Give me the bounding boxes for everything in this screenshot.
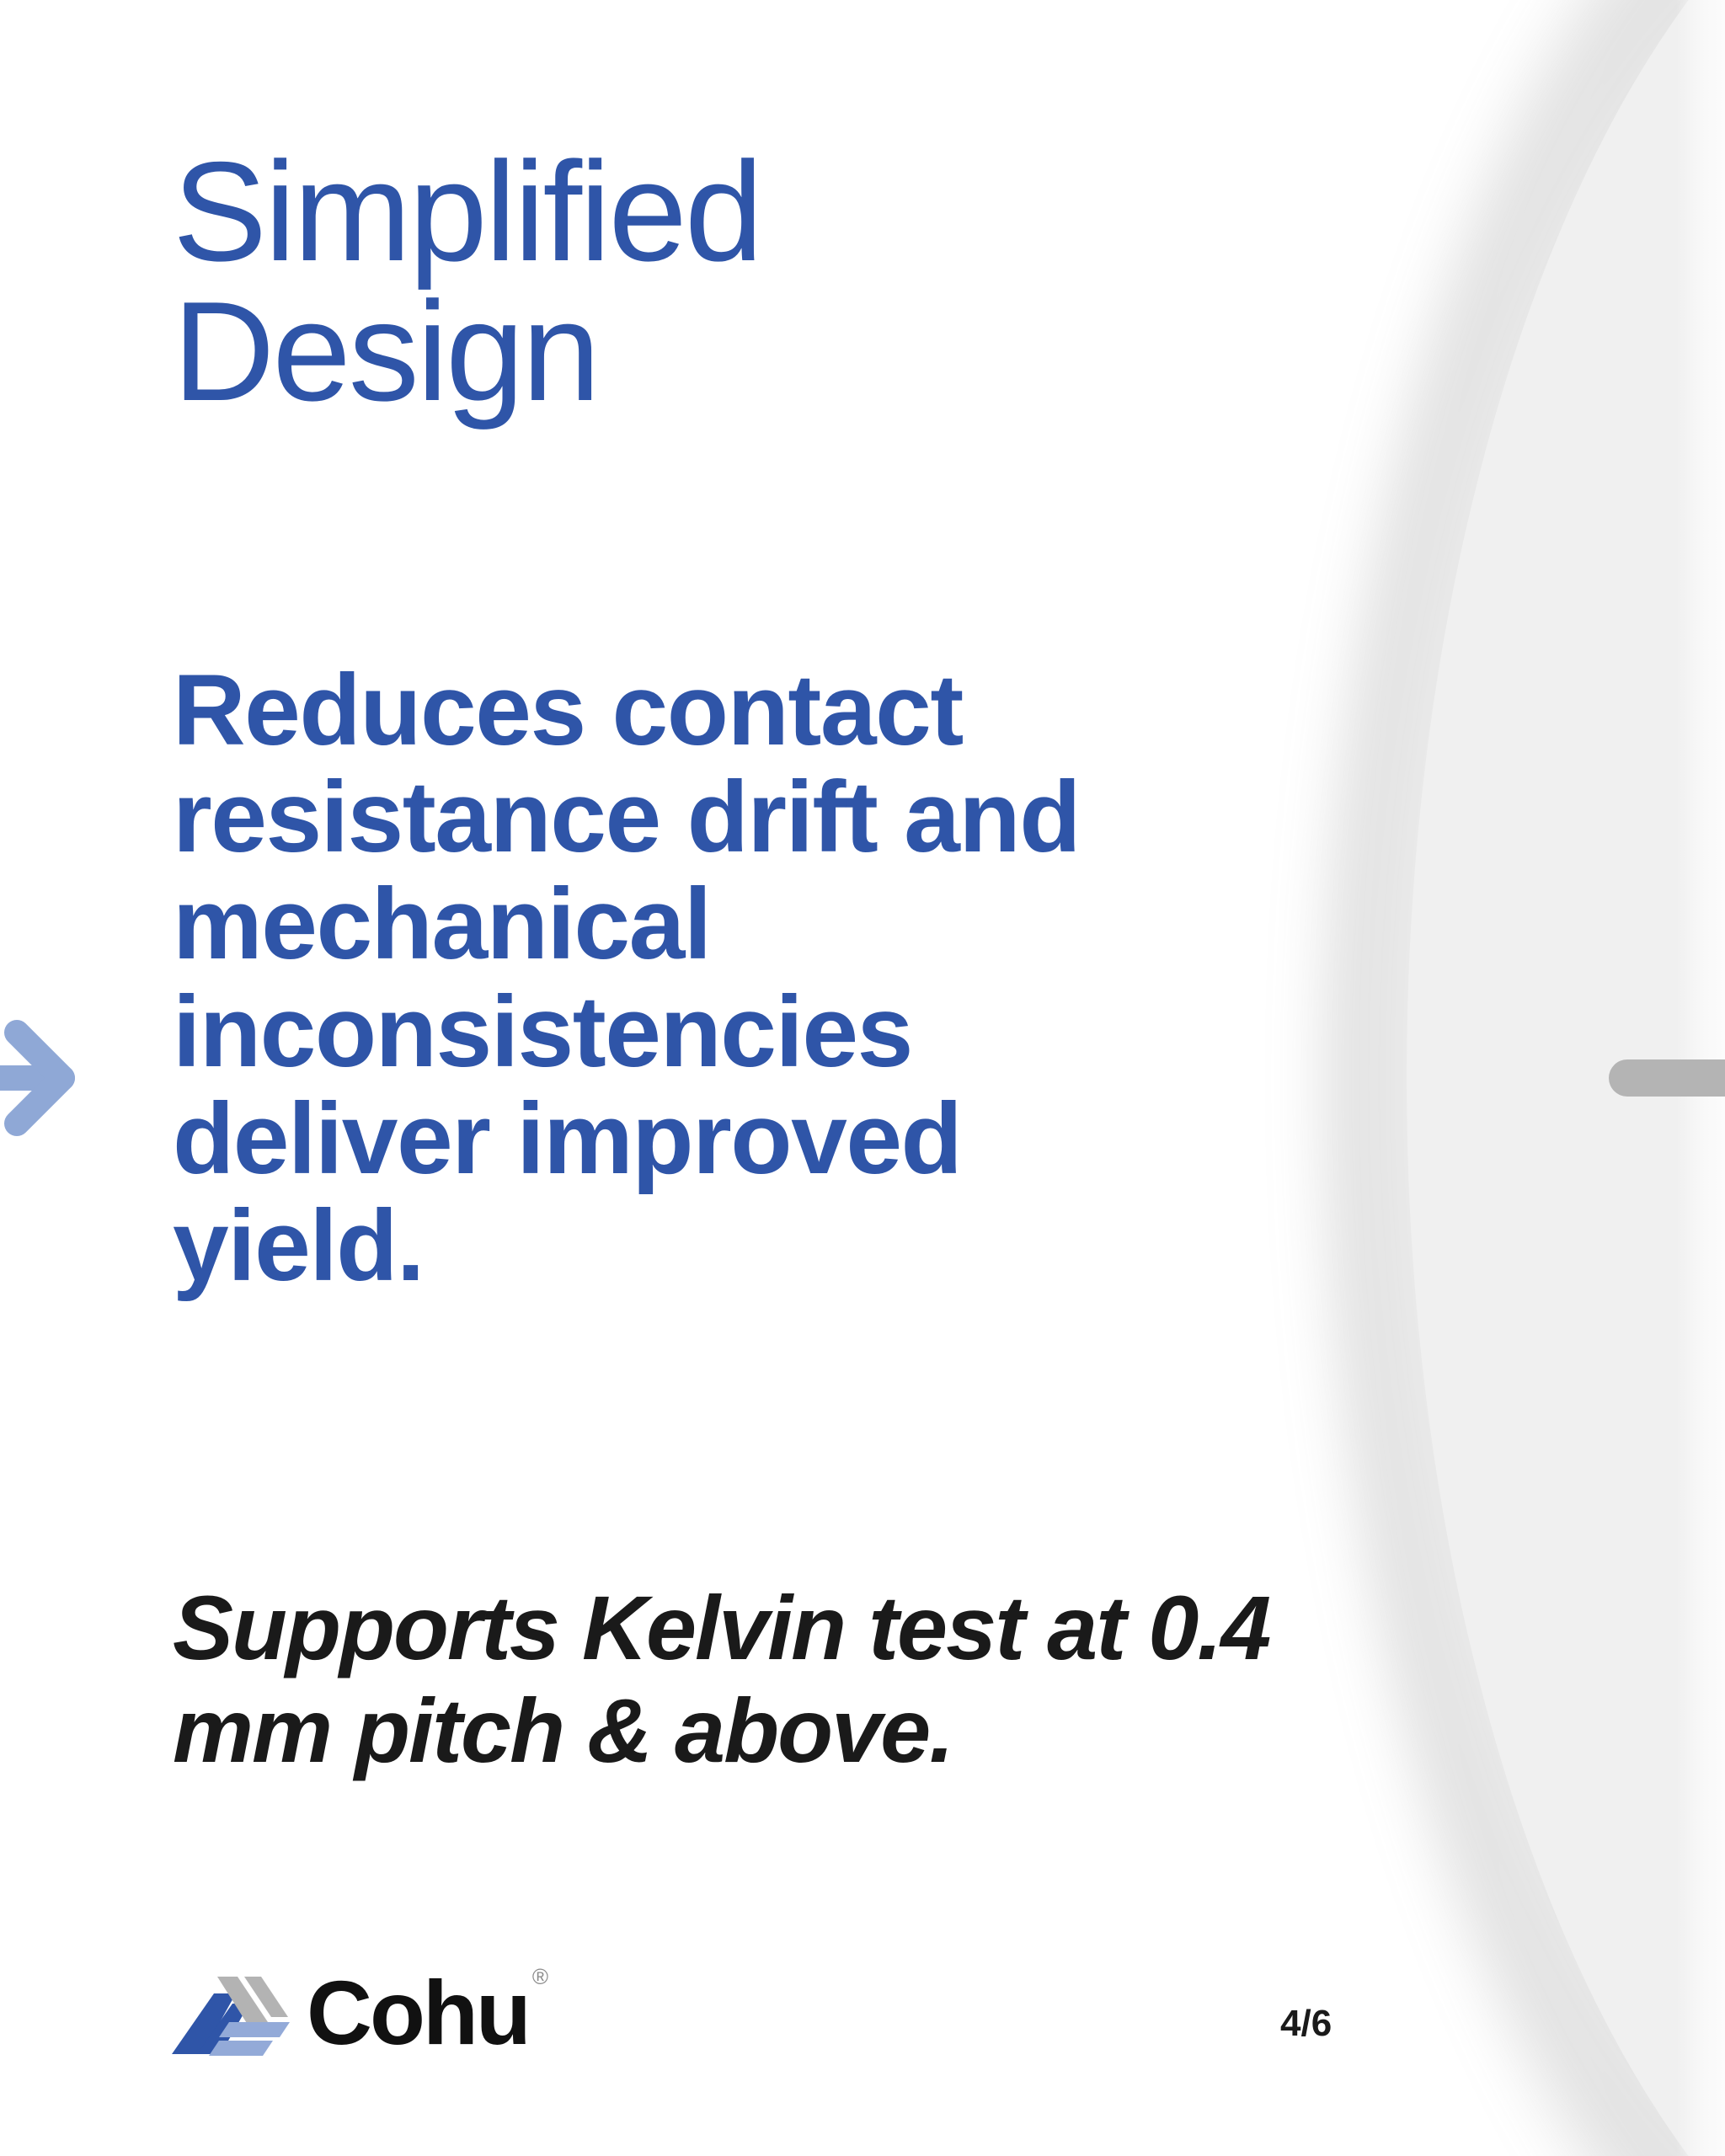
logo-wordmark: Cohu® <box>307 1967 545 2058</box>
logo-wordmark-text: Cohu <box>307 1961 529 2063</box>
next-progress-bar[interactable] <box>1609 1059 1725 1097</box>
subnote-text: Supports Kelvin test at 0.4 mm pitch & a… <box>173 1577 1310 1782</box>
page-counter: 4/6 <box>1280 2003 1332 2045</box>
slide-root: Simplified Design Reduces contact resist… <box>0 0 1725 2156</box>
footer-logo: Cohu® <box>165 1967 545 2065</box>
prev-arrow-button[interactable] <box>0 1009 106 1147</box>
cohu-triangle-logo-icon <box>165 1970 291 2063</box>
slide-content: Simplified Design Reduces contact resist… <box>173 0 1284 2156</box>
registered-trademark-icon: ® <box>532 1964 548 1989</box>
arrow-right-icon <box>0 1009 106 1147</box>
headline-text: Reduces contact resistance drift and mec… <box>173 657 1209 1299</box>
page-title: Simplified Design <box>173 141 1234 422</box>
